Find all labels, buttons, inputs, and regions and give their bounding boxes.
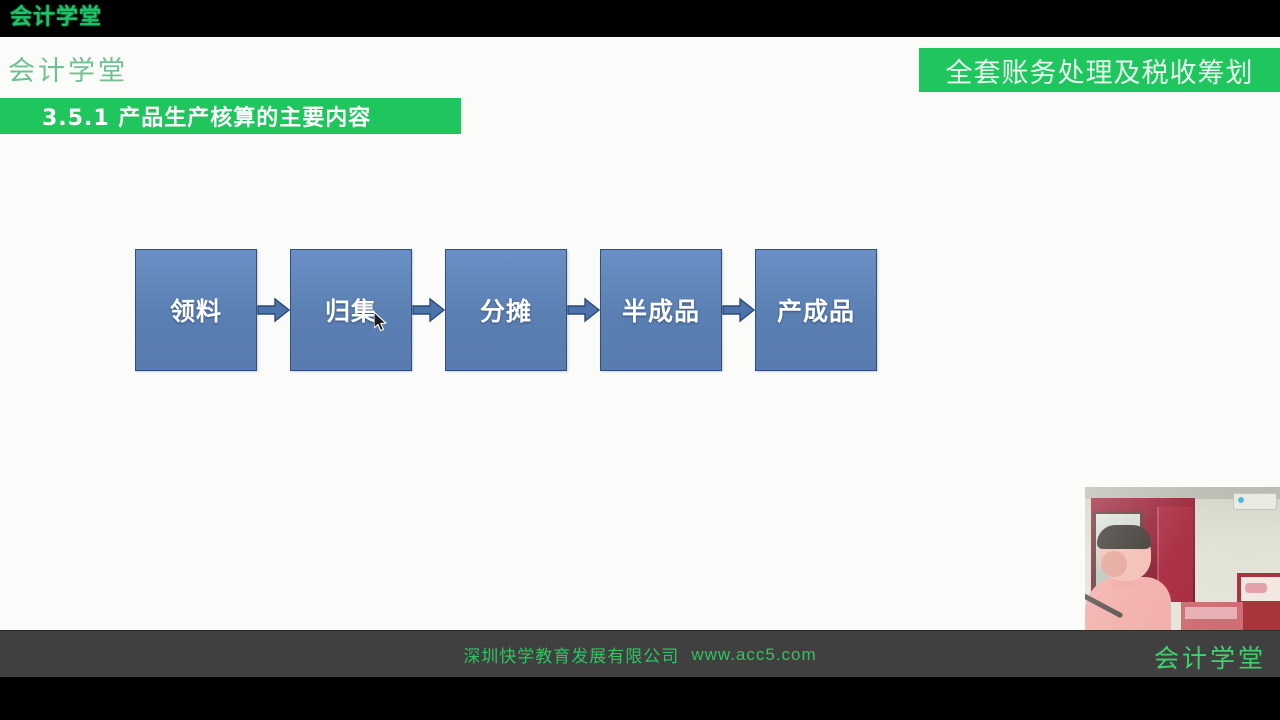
flow-box-5-label: 产成品: [777, 292, 855, 328]
flow-box-1: 领料: [135, 249, 257, 371]
flow-box-5: 产成品: [755, 249, 877, 371]
flow-arrow-2-3: [412, 248, 445, 372]
flow-box-4-label: 半成品: [622, 292, 700, 328]
promo-banner: 全套账务处理及税收筹划: [919, 48, 1280, 92]
site-logo: 会计学堂: [10, 5, 102, 31]
footer-bar: 深圳快学教育发展有限公司 www.acc5.com 会计学堂: [0, 630, 1280, 678]
footer-url[interactable]: www.acc5.com: [691, 645, 816, 665]
watermark-top-left: 会计学堂: [8, 49, 128, 88]
slide-canvas: 会计学堂 全套账务处理及税收筹划 3.5.1 产品生产核算的主要内容 领料 归集: [0, 37, 1280, 630]
webcam-glare: [1085, 487, 1280, 630]
footer-credit: 深圳快学教育发展有限公司 www.acc5.com: [0, 631, 1280, 678]
instructor-webcam[interactable]: [1085, 487, 1280, 630]
process-flow-diagram: 领料 归集 分摊: [135, 248, 877, 372]
flow-box-2-label: 归集: [325, 292, 377, 328]
flow-box-4: 半成品: [600, 249, 722, 371]
footer-company: 深圳快学教育发展有限公司: [463, 642, 679, 667]
top-black-bar: 会计学堂: [0, 0, 1280, 37]
promo-banner-text: 全套账务处理及税收筹划: [946, 51, 1254, 90]
slide-title-bar: 3.5.1 产品生产核算的主要内容: [0, 98, 461, 134]
flow-box-2: 归集: [290, 249, 412, 371]
flow-arrow-3-4: [567, 248, 600, 372]
flow-arrow-4-5: [722, 248, 755, 372]
right-arrow-icon: [412, 296, 445, 324]
bottom-black-bar: [0, 677, 1280, 720]
right-arrow-icon: [257, 296, 290, 324]
watermark-bottom-right: 会计学堂: [1154, 639, 1266, 675]
video-player-screen: 会计学堂 会计学堂 全套账务处理及税收筹划 3.5.1 产品生产核算的主要内容 …: [0, 0, 1280, 720]
flow-box-1-label: 领料: [170, 292, 222, 328]
slide-title-text: 3.5.1 产品生产核算的主要内容: [42, 100, 371, 132]
flow-arrow-1-2: [257, 248, 290, 372]
flow-box-3-label: 分摊: [480, 292, 532, 328]
flow-box-3: 分摊: [445, 249, 567, 371]
right-arrow-icon: [722, 296, 755, 324]
right-arrow-icon: [567, 296, 600, 324]
